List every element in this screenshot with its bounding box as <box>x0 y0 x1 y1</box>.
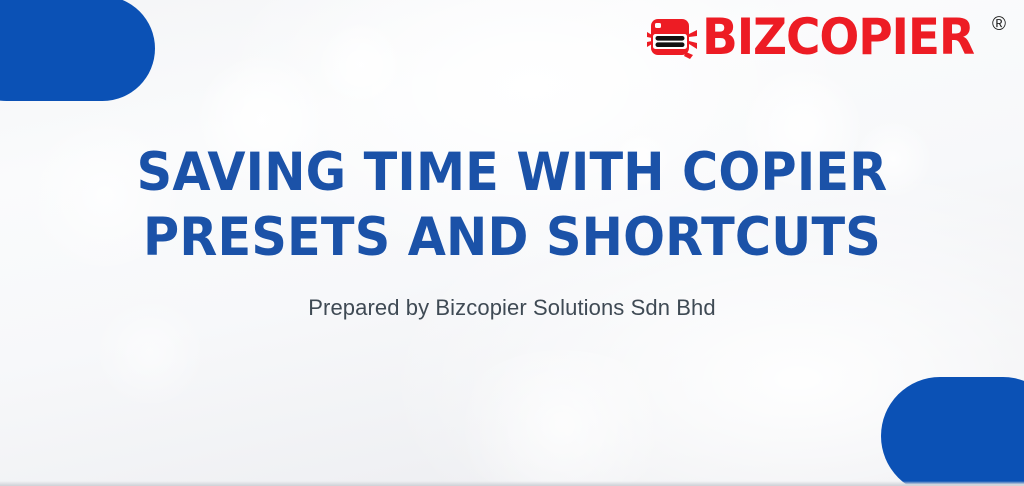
brand-wordmark: BIZCOPIER <box>702 13 974 61</box>
subtitle: Prepared by Bizcopier Solutions Sdn Bhd <box>60 294 964 322</box>
decorative-shape-bottom-right <box>881 377 1024 486</box>
title-slide: BIZCOPIER ® SAVING TIME WITH COPIER PRES… <box>0 0 1024 486</box>
copier-machine-icon <box>646 15 700 63</box>
bokeh-light <box>318 22 404 108</box>
page-title: SAVING TIME WITH COPIER PRESETS AND SHOR… <box>92 140 933 270</box>
title-line-1: SAVING TIME WITH COPIER <box>92 140 933 205</box>
slide-content: SAVING TIME WITH COPIER PRESETS AND SHOR… <box>0 140 1024 322</box>
bottom-edge-divider <box>0 481 1024 486</box>
bokeh-light <box>452 350 672 486</box>
decorative-shape-top-left <box>0 0 155 101</box>
brand-logo: BIZCOPIER ® <box>646 13 1006 67</box>
title-line-2: PRESETS AND SHORTCUTS <box>92 205 933 270</box>
registered-trademark-icon: ® <box>992 15 1006 34</box>
